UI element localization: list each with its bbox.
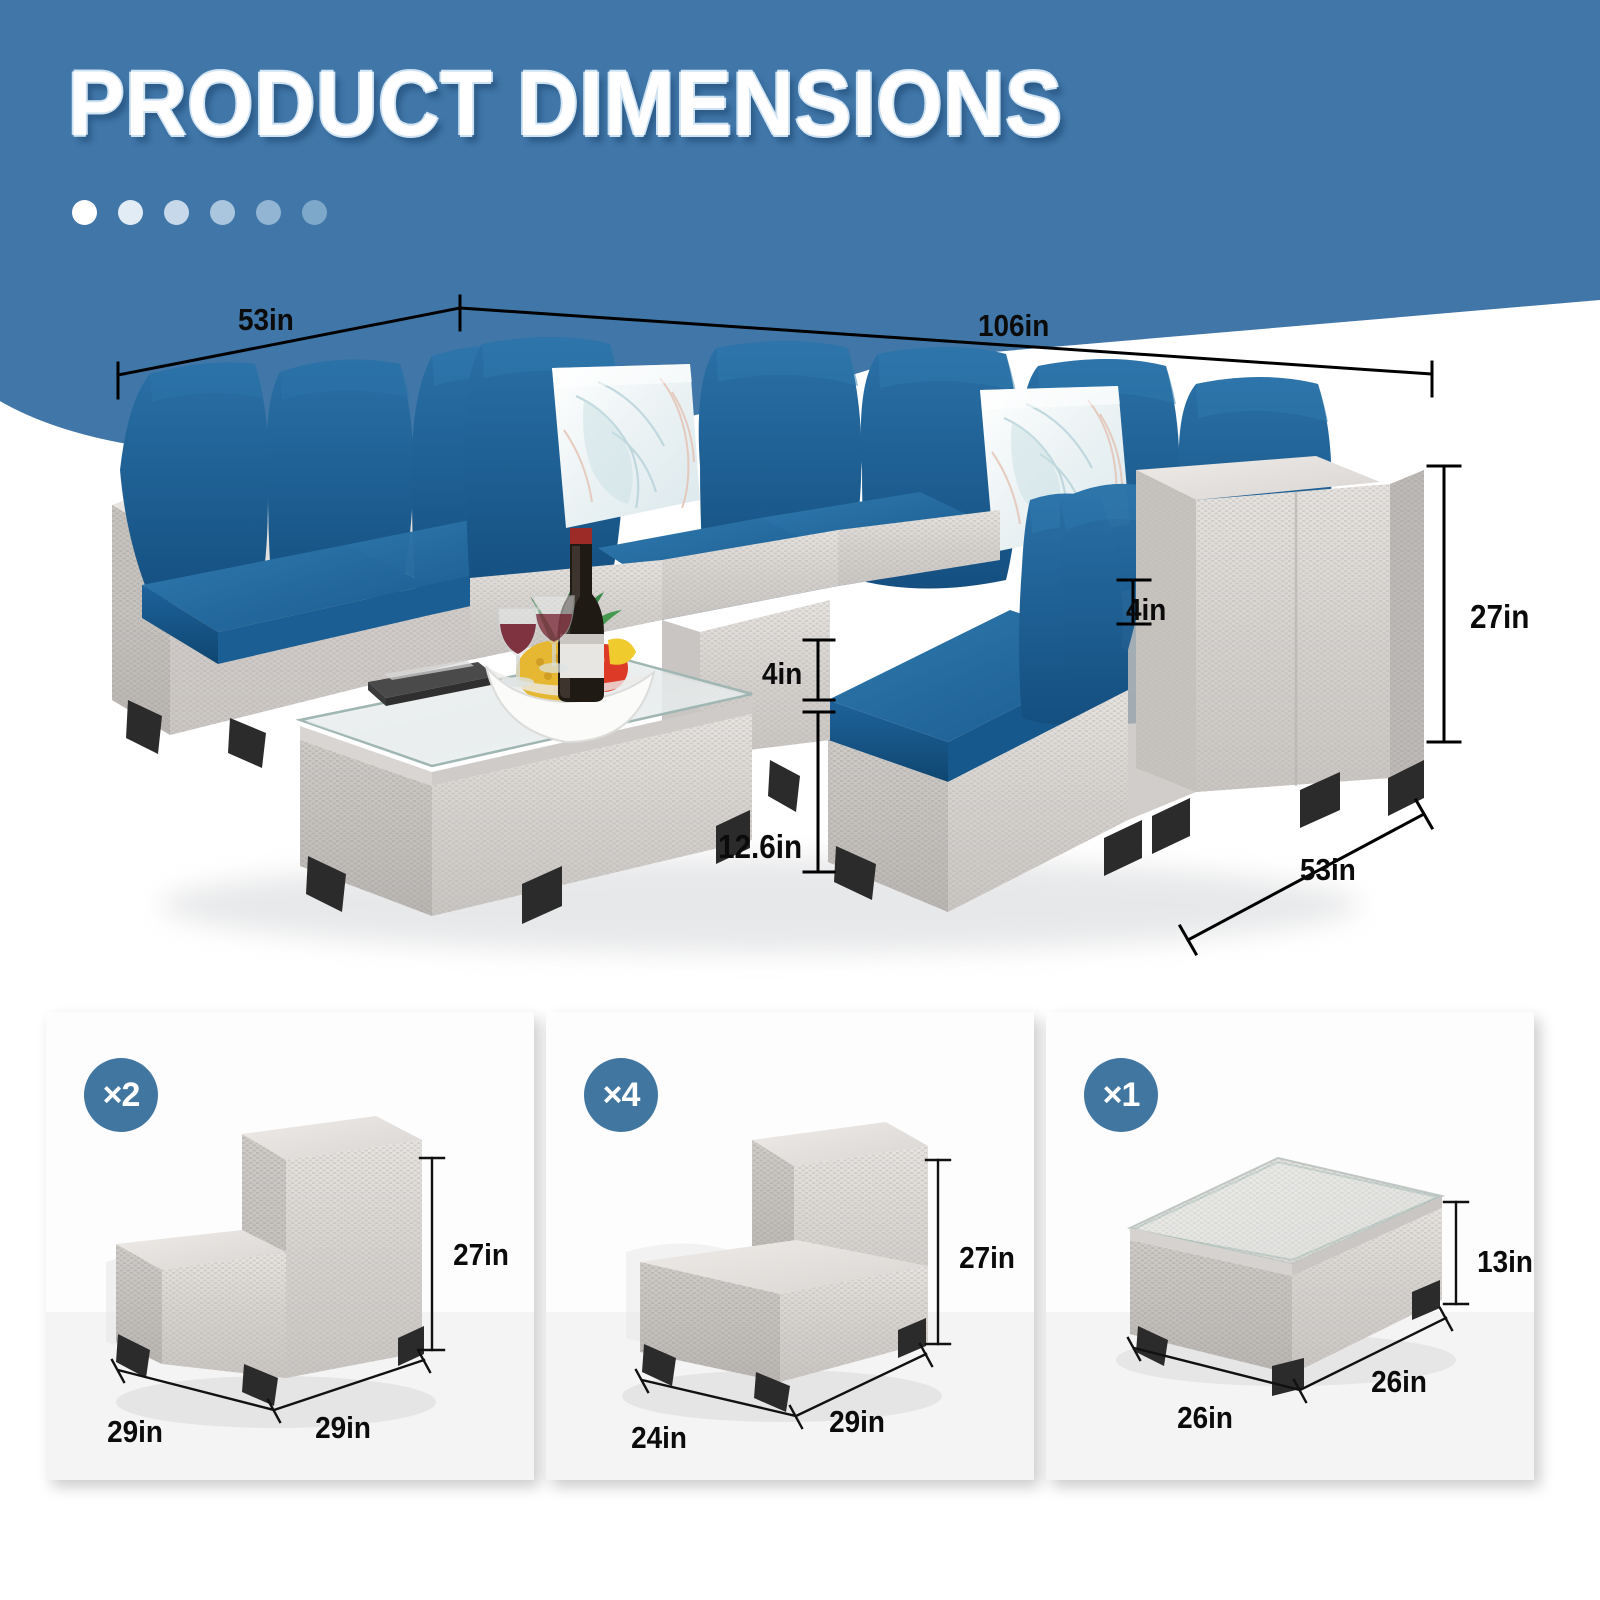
dim-seat-height: 12.6in [718, 828, 802, 866]
dim-seat-back-height: 27in [1470, 598, 1529, 636]
dim-cushion-thickness-2: 4in [762, 656, 802, 692]
dim-overall-depth-right: 53in [1300, 852, 1356, 888]
dim-overall-depth-left: 53in [238, 302, 294, 338]
dim-cushion-thickness-1: 4in [1126, 592, 1166, 628]
dim-overall-width: 106in [978, 308, 1049, 344]
hero-dimensions: 53in 106in 27in 4in 4in 12.6in 53in [0, 0, 1600, 1600]
product-dimensions-infographic: PRODUCT DIMENSIONS [0, 0, 1600, 1600]
